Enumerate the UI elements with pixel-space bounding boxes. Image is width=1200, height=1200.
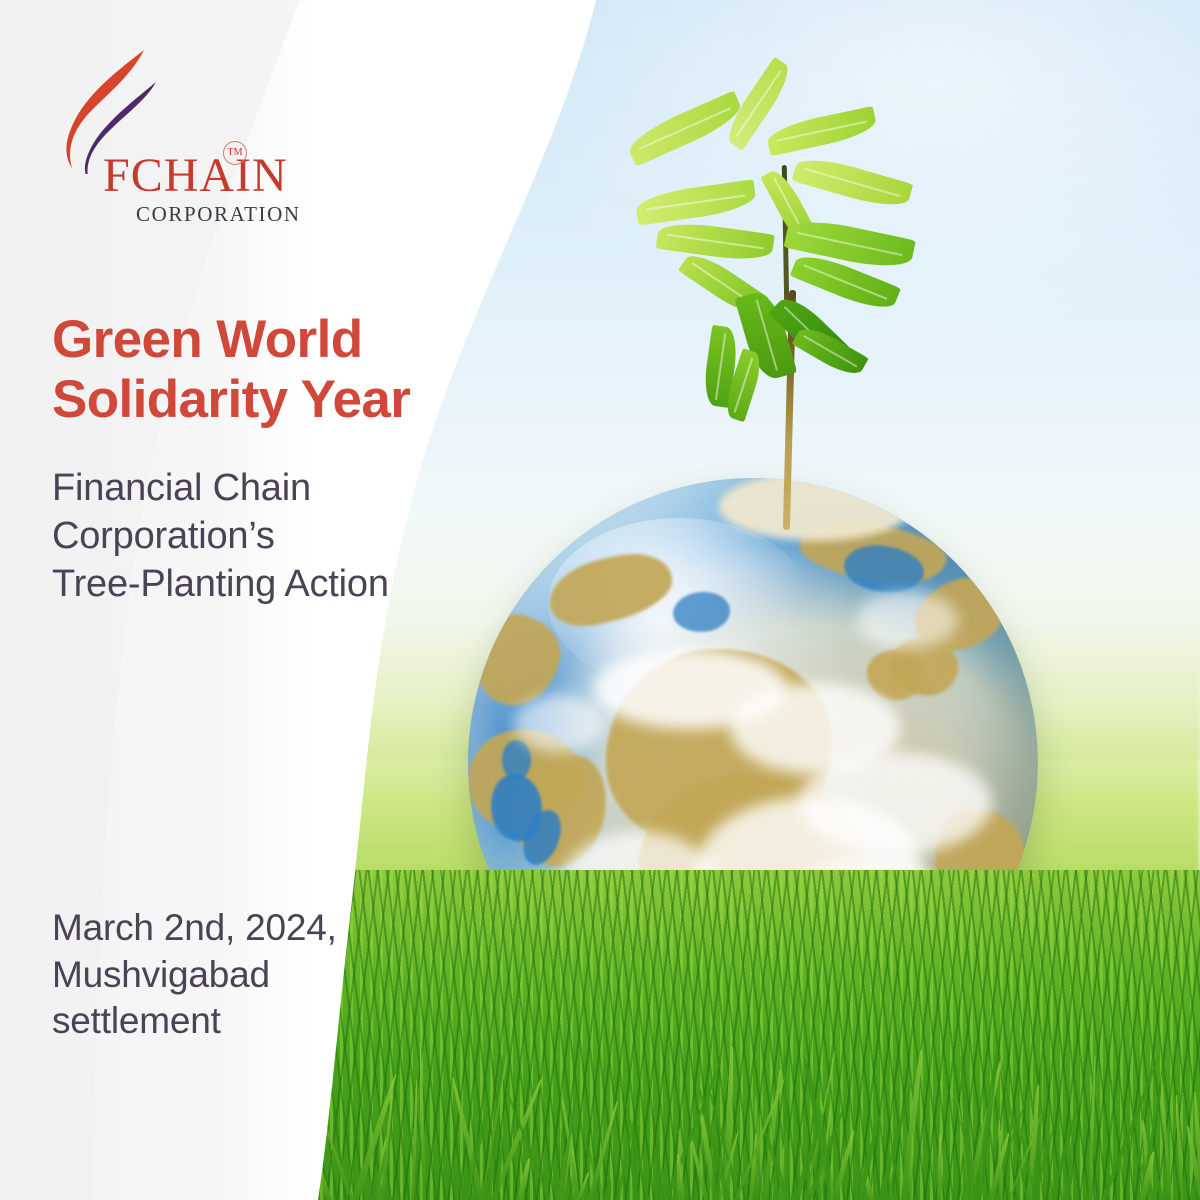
poster-canvas: FCHAIN TM CORPORATION Green World Solida… [0, 0, 1200, 1200]
headline-line-1: Green World [52, 310, 522, 370]
trademark-icon: TM [223, 141, 247, 165]
event-details: March 2nd, 2024, Mushvigabad settlement [52, 905, 482, 1045]
grass-blade [1175, 1095, 1184, 1200]
headline-line-2: Solidarity Year [52, 370, 522, 430]
globe-landmass [867, 649, 924, 700]
grass-blade [1047, 1106, 1079, 1200]
subhead-line-3: Tree-Planting Action [52, 561, 522, 609]
grass-blade [1156, 1175, 1166, 1200]
globe-landmass [543, 545, 679, 632]
grass-blade [712, 1144, 716, 1200]
grass-blade [586, 1100, 619, 1200]
grass-blade [831, 1161, 835, 1200]
event-location-line-2: settlement [52, 998, 482, 1045]
tree-seedling [640, 120, 960, 520]
page-title: Green World Solidarity Year [52, 310, 522, 431]
seedling-leaf [792, 152, 914, 213]
grass-blade [605, 1178, 613, 1200]
globe-ocean-inlet [671, 589, 732, 635]
globe-cloud [856, 592, 959, 649]
page-subtitle: Financial Chain Corporation’s Tree-Plant… [52, 465, 522, 609]
grass-blade [1160, 1076, 1173, 1200]
grass-blade [830, 1130, 856, 1200]
seedling-leaf [634, 179, 757, 225]
grass-blade [937, 1133, 942, 1200]
grass-blade [1088, 1056, 1097, 1200]
subhead-line-2: Corporation’s [52, 513, 522, 561]
seedling-leaf [656, 219, 775, 265]
event-location-line-1: Mushvigabad [52, 952, 482, 999]
logo-tagline: CORPORATION [136, 204, 301, 225]
logo-wordmark: FCHAIN [103, 152, 288, 200]
event-date: March 2nd, 2024, [52, 905, 482, 952]
fchain-logo[interactable]: FCHAIN TM CORPORATION [48, 44, 258, 224]
text-content: FCHAIN TM CORPORATION Green World Solida… [0, 0, 560, 1200]
subhead-line-1: Financial Chain [52, 465, 522, 513]
